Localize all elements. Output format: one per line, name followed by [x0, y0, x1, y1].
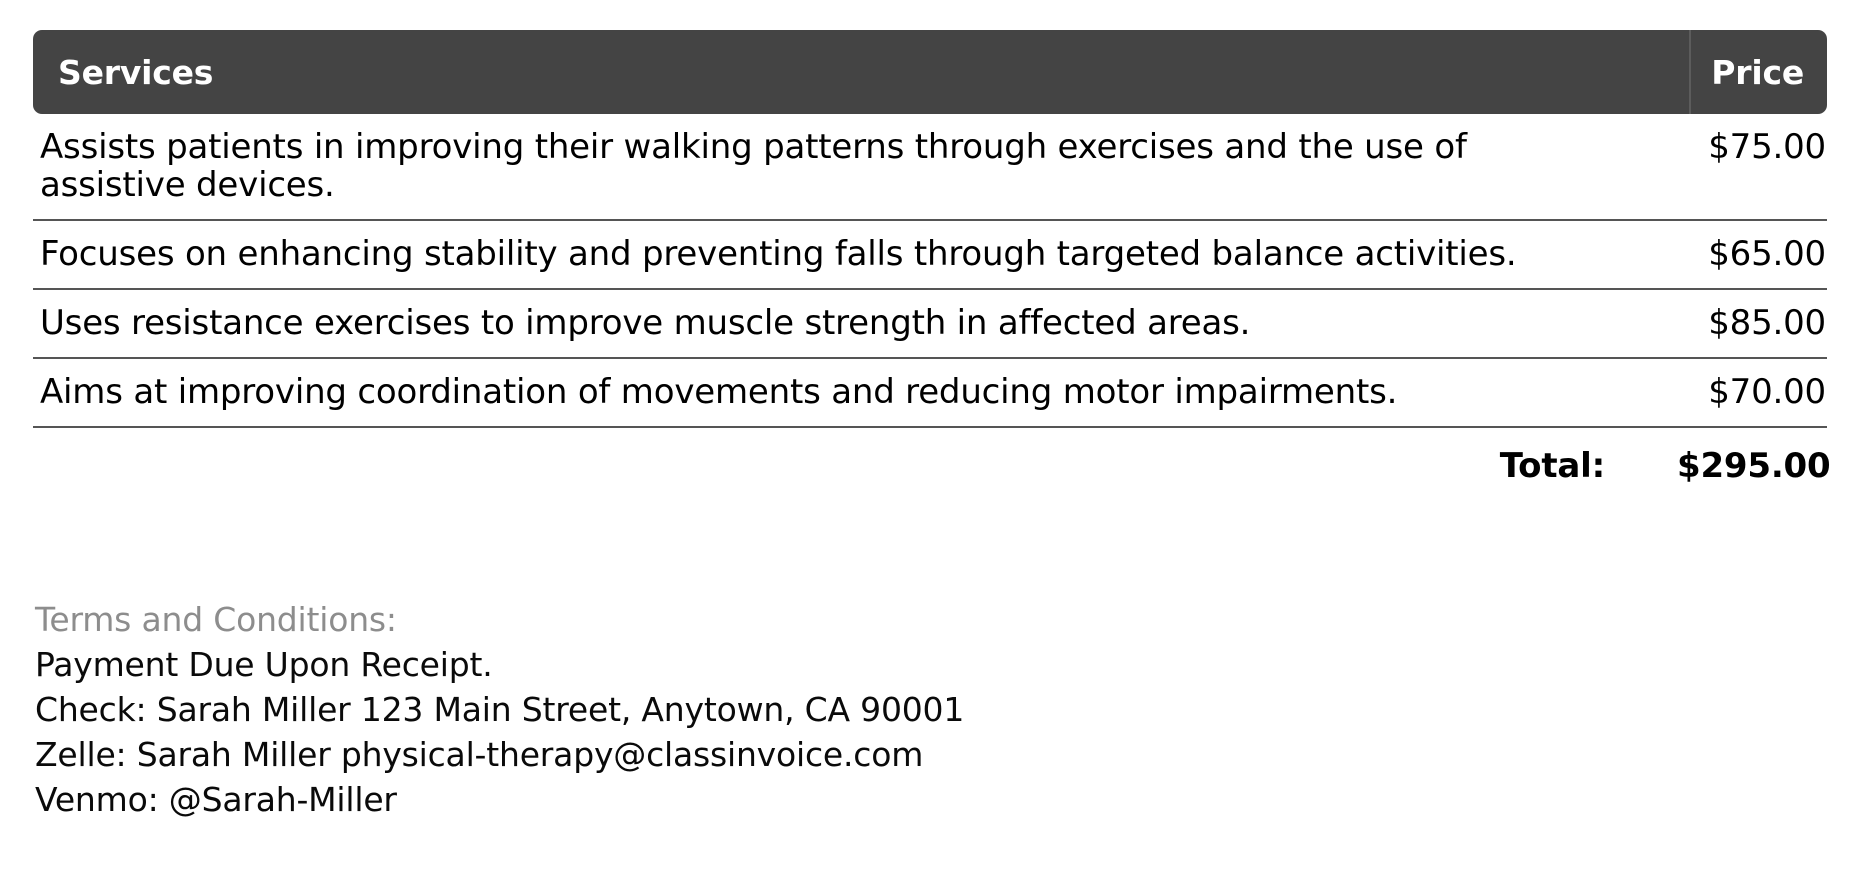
terms-line-check: Check: Sarah Miller 123 Main Street, Any…	[35, 687, 1635, 732]
terms-line-payment: Payment Due Upon Receipt.	[35, 642, 1635, 687]
service-description: Assists patients in improving their walk…	[33, 114, 1527, 219]
service-description: Aims at improving coordination of moveme…	[33, 359, 1527, 426]
column-header-price: Price	[1691, 53, 1827, 92]
services-table: Services Price Assists patients in impro…	[33, 30, 1827, 486]
terms-line-zelle: Zelle: Sarah Miller physical-therapy@cla…	[35, 732, 1635, 777]
table-row: Aims at improving coordination of moveme…	[33, 359, 1827, 428]
service-price: $85.00	[1527, 290, 1827, 357]
terms-line-venmo: Venmo: @Sarah-Miller	[35, 777, 1635, 822]
total-label: Total:	[1500, 446, 1605, 486]
service-price: $75.00	[1527, 114, 1827, 181]
terms-and-conditions: Terms and Conditions: Payment Due Upon R…	[35, 597, 1635, 822]
table-row: Assists patients in improving their walk…	[33, 114, 1827, 221]
total-row: Total: $295.00	[33, 428, 1827, 486]
terms-title: Terms and Conditions:	[35, 597, 1635, 642]
service-description: Uses resistance exercises to improve mus…	[33, 290, 1527, 357]
column-header-services: Services	[33, 53, 1689, 92]
total-amount: $295.00	[1677, 446, 1827, 486]
invoice-services-section: Services Price Assists patients in impro…	[0, 0, 1868, 870]
table-row: Focuses on enhancing stability and preve…	[33, 221, 1827, 290]
service-price: $70.00	[1527, 359, 1827, 426]
table-header-row: Services Price	[33, 30, 1827, 114]
table-row: Uses resistance exercises to improve mus…	[33, 290, 1827, 359]
service-description: Focuses on enhancing stability and preve…	[33, 221, 1527, 288]
service-price: $65.00	[1527, 221, 1827, 288]
